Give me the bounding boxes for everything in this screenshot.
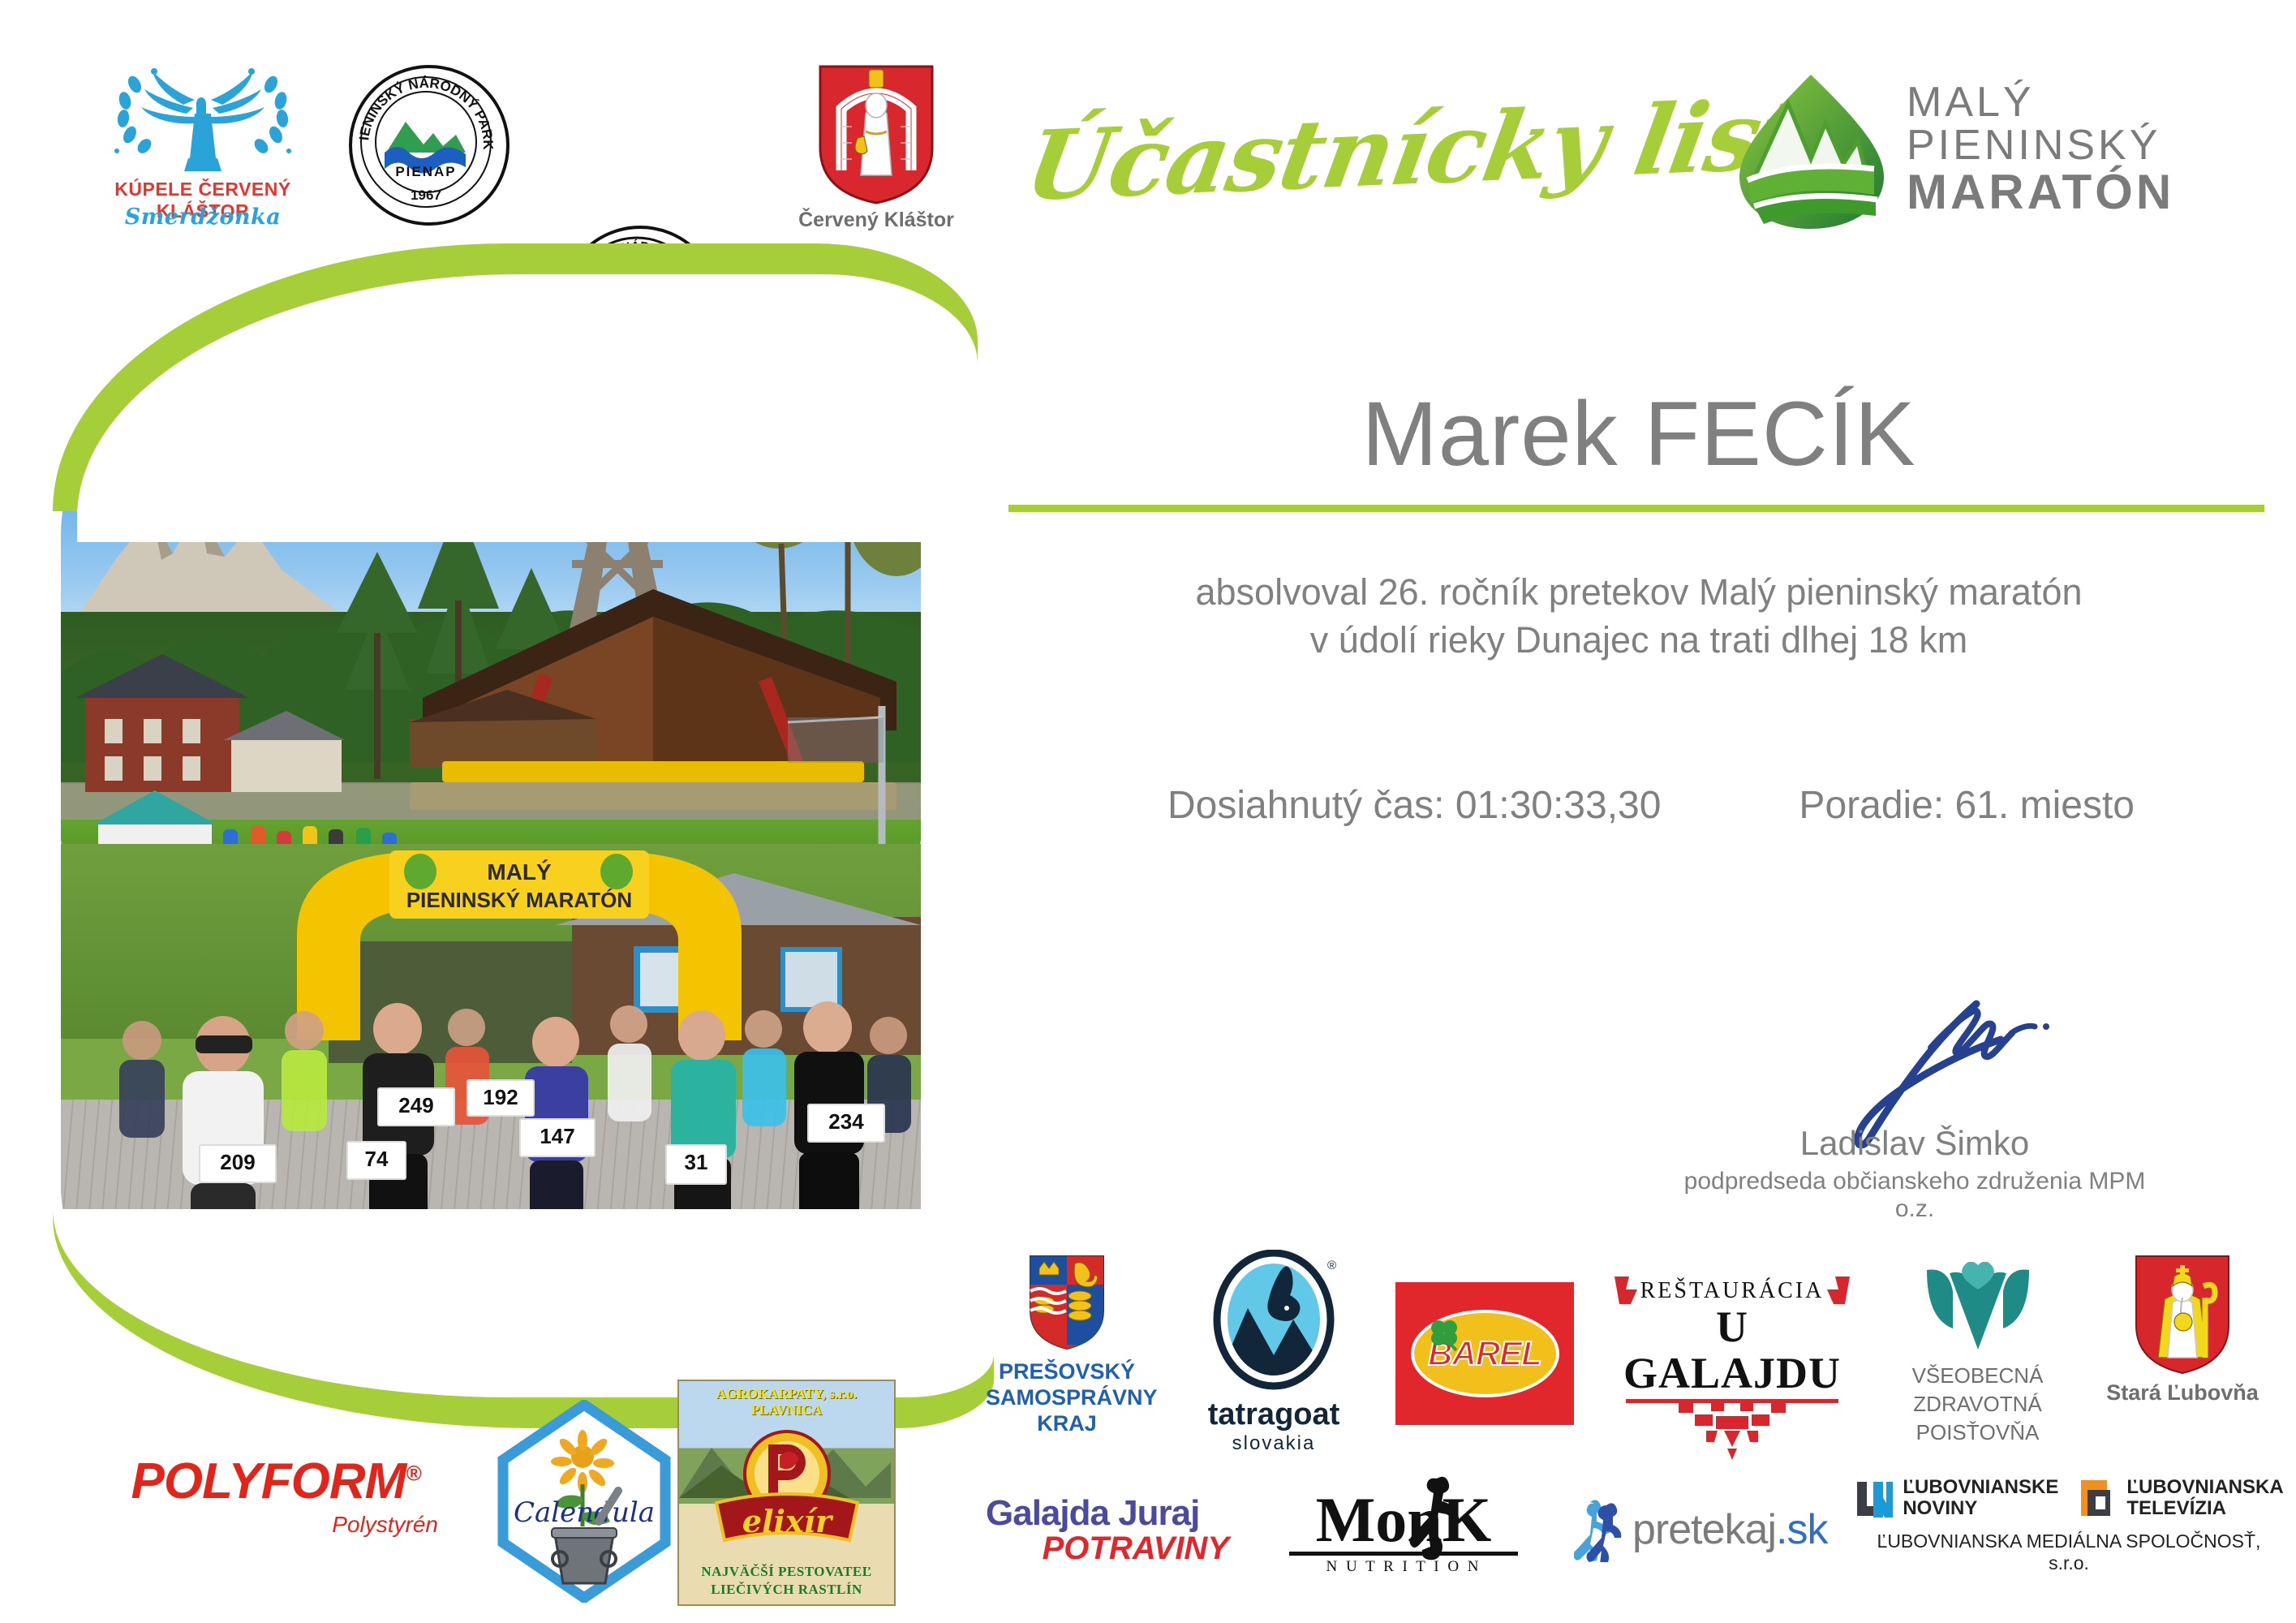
sponsor-monk-sub: N U T R I T I O N xyxy=(1286,1558,1521,1576)
sponsor-tatragoat-sub: slovakia xyxy=(1180,1432,1367,1455)
sponsor-agrokarpaty-brand: elixír xyxy=(742,1503,834,1539)
svg-text:PIENINSKÝ NÁRODNÝ PARK: PIENINSKÝ NÁRODNÝ PARK xyxy=(352,68,496,150)
folk-ornament-icon xyxy=(1659,1403,1805,1460)
result-place: Poradie: 61. miesto xyxy=(1799,783,2135,828)
results-row: Dosiahnutý čas: 01:30:33,30 Poradie: 61.… xyxy=(1014,783,2288,828)
arch-line2: PIENINSKÝ MARATÓN xyxy=(406,888,632,912)
pienap-seal-icon: PIENINSKÝ NÁRODNÝ PARK PIENAP 1967 xyxy=(352,68,500,216)
svg-text:1967: 1967 xyxy=(411,187,441,203)
mpm-line1: MALÝ xyxy=(1907,81,2174,124)
sponsor-vseobecna-zdravotna: VŠEOBECNÁ ZDRAVOTNÁ POISŤOVŇA xyxy=(1890,1262,2065,1447)
sponsor-calendula: Calendula xyxy=(495,1400,673,1603)
race-bib: 249 xyxy=(377,1087,455,1126)
sponsor-ln-l2: NOVINY xyxy=(1903,1498,2058,1519)
sponsor-calendula-name: Calendula xyxy=(514,1496,655,1529)
participant-name: Marek FECÍK xyxy=(1014,381,2264,486)
sponsor-polyform-name: POLYFORM® xyxy=(114,1453,438,1510)
sponsor-galajda-l2: POTRAVINY xyxy=(986,1530,1229,1567)
description-line1: absolvoval 26. ročník pretekov Malý pien… xyxy=(1014,568,2264,616)
registered-mark: ® xyxy=(1327,1259,1336,1272)
logo-kupele-line2: Smerdžonka xyxy=(97,204,308,230)
sponsor-ugalajdu-l1: REŠTAURÁCIA xyxy=(1615,1278,1850,1304)
sponsor-polyform-sub: Polystyrén xyxy=(114,1512,438,1538)
race-bib: 147 xyxy=(519,1118,595,1157)
running-monk-icon xyxy=(1409,1474,1466,1563)
sponsor-vzp-l2: ZDRAVOTNÁ xyxy=(1890,1390,2065,1419)
sponsor-agrokarpaty: AGROKARPATY, s.r.o. PLAVNICA elixír NAJV… xyxy=(677,1380,896,1606)
coat-of-arms-icon xyxy=(815,63,937,205)
description: absolvoval 26. ročník pretekov Malý pien… xyxy=(1014,568,2264,665)
presov-coat-of-arms-icon xyxy=(1028,1254,1106,1351)
header-logo-strip: KÚPELE ČERVENÝ KLÁŠTOR Smerdžonka PIENIN… xyxy=(89,57,949,243)
sponsor-pretekaj-name: pretekaj xyxy=(1632,1506,1776,1553)
race-bib: 192 xyxy=(467,1079,535,1117)
sponsor-vzp-l3: POISŤOVŇA xyxy=(1890,1419,2065,1447)
sponsor-psk-l1: PREŠOVSKÝ xyxy=(986,1359,1148,1385)
mpm-brand-logo: MALÝ PIENINSKÝ MARATÓN xyxy=(1736,73,2272,235)
two-runners-icon xyxy=(1574,1497,1624,1562)
mpm-wordmark: MALÝ PIENINSKÝ MARATÓN xyxy=(1907,81,2174,217)
sponsor-monk-nutrition: MonK N U T R I T I O N xyxy=(1286,1461,1521,1586)
race-bib: 209 xyxy=(199,1144,277,1183)
page-title: Účastnícky list xyxy=(1018,77,1812,222)
svg-text:PIENAP: PIENAP xyxy=(395,164,456,179)
tatragoat-icon: ® xyxy=(1209,1250,1339,1396)
angel-wings-icon xyxy=(97,63,308,173)
race-bib: 74 xyxy=(346,1141,406,1180)
sponsor-presovsky-kraj: PREŠOVSKÝ SAMOSPRÁVNY KRAJ xyxy=(986,1254,1148,1437)
sponsor-galajda-l1: Galajda Juraj xyxy=(986,1493,1229,1534)
sponsor-vzp-l1: VŠEOBECNÁ xyxy=(1890,1362,2065,1390)
sponsor-barel: BAREL xyxy=(1395,1282,1574,1425)
sponsor-lt-l2: TELEVÍZIA xyxy=(2126,1498,2283,1519)
folk-accent-left xyxy=(1611,1273,1647,1309)
sponsor-polyform: POLYFORM® Polystyrén xyxy=(114,1453,438,1538)
sponsor-stara-lubovna-name: Stará Ľubovňa xyxy=(2101,1380,2264,1406)
elixir-seal: elixír xyxy=(710,1428,864,1550)
sponsor-lubovnianska-media: ĽUBOVNIANSKE NOVINY ĽUBOVNIANSKA TELEVÍZ… xyxy=(1866,1477,2272,1574)
sponsor-stara-lubovna: Stará Ľubovňa xyxy=(2101,1254,2264,1406)
sponsor-tatragoat-name: tatragoat xyxy=(1180,1397,1367,1432)
ln-logo-icon xyxy=(1854,1479,1896,1518)
sponsor-psk-l2: SAMOSPRÁVNY xyxy=(986,1385,1148,1411)
sponsor-galajda-juraj: Galajda Juraj POTRAVINY xyxy=(986,1493,1229,1567)
description-line2: v údolí rieky Dunajec na trati dlhej 18 … xyxy=(1014,616,2264,664)
race-bib: 31 xyxy=(665,1144,727,1185)
sponsor-psk-l3: KRAJ xyxy=(986,1411,1148,1437)
stara-lubovna-coa-icon xyxy=(2134,1254,2231,1375)
signature-block: Ladislav Šimko podpredseda občianskeho z… xyxy=(1663,1002,2166,1223)
vzp-chevron-heart-icon xyxy=(1925,1262,2031,1355)
folk-accent-right xyxy=(1817,1273,1853,1309)
calendula-icon: Calendula xyxy=(495,1400,673,1603)
mountain-leaf-icon xyxy=(1736,73,1886,231)
race-bib: 234 xyxy=(807,1104,885,1143)
sponsor-media-company: ĽUBOVNIANSKA MEDIÁLNA SPOLOČNOSŤ, s.r.o. xyxy=(1866,1530,2272,1574)
green-divider xyxy=(1008,505,2264,512)
sponsor-lt-l1: ĽUBOVNIANSKA xyxy=(2126,1477,2283,1498)
photo-collage: MALÝ PIENINSKÝ MARATÓN xyxy=(61,243,978,1404)
logo-cerveny-klastor-label: Červený Kláštor xyxy=(795,209,957,232)
sponsor-u-galajdu: REŠTAURÁCIA U GALAJDU xyxy=(1615,1278,1850,1460)
sponsor-pretekaj-tld: .sk xyxy=(1776,1506,1827,1553)
sponsor-monk-name: MonK xyxy=(1286,1488,1521,1552)
arch-line1: MALÝ xyxy=(487,859,552,885)
signatory-name: Ladislav Šimko xyxy=(1663,1124,2166,1163)
sponsor-pretekaj: pretekaj.sk xyxy=(1574,1497,1834,1562)
logo-cerveny-klastor-coa: Červený Kláštor xyxy=(795,63,957,242)
mpm-line3: MARATÓN xyxy=(1907,167,2174,217)
logo-pienap-seal: PIENINSKÝ NÁRODNÝ PARK PIENAP 1967 xyxy=(349,65,510,226)
result-time: Dosiahnutý čas: 01:30:33,30 xyxy=(1167,783,1661,828)
signatory-role: podpredseda občianskeho združenia MPM o.… xyxy=(1663,1168,2166,1223)
sponsor-ugalajdu-l2: U GALAJDU xyxy=(1615,1304,1850,1396)
sponsor-agrokarpaty-bottom1: NAJVÄČŠÍ PESTOVATEĽ xyxy=(679,1564,894,1580)
sponsor-ln-l1: ĽUBOVNIANSKE xyxy=(1903,1477,2058,1498)
lt-logo-icon xyxy=(2079,1479,2120,1518)
clover-icon xyxy=(1427,1318,1461,1352)
logo-kupele-cerveny-klastor: KÚPELE ČERVENÝ KLÁŠTOR Smerdžonka xyxy=(97,57,308,243)
sponsor-tatragoat: ® tatragoat slovakia xyxy=(1180,1250,1367,1455)
mpm-line2: PIENINSKÝ xyxy=(1907,124,2174,167)
sponsor-agrokarpaty-bottom2: LIEČIVÝCH RASTLÍN xyxy=(679,1582,894,1598)
certificate-page: KÚPELE ČERVENÝ KLÁŠTOR Smerdžonka PIENIN… xyxy=(0,0,2296,1623)
